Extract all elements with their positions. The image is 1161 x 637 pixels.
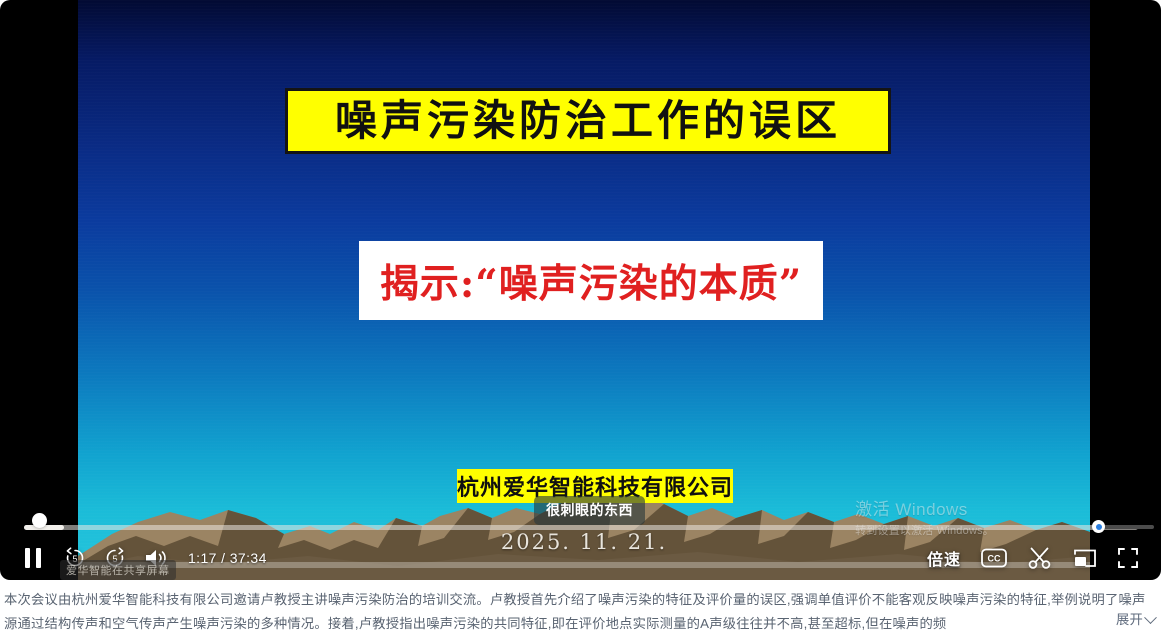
video-player[interactable]: 噪声污染防治工作的误区 揭示:“噪声污染的本质” 杭州爱华智能科技有限公司 很刺… xyxy=(0,0,1161,580)
volume-slider-handle[interactable] xyxy=(1092,520,1105,533)
cc-icon[interactable]: CC xyxy=(981,547,1007,569)
seek-handle[interactable] xyxy=(32,513,47,528)
description-text: 本次会议由杭州爱华智能科技有限公司邀请卢教授主讲噪声污染防治的培训交流。卢教授首… xyxy=(4,588,1155,636)
time-display: 1:17 / 37:34 xyxy=(188,550,267,566)
expand-description-button[interactable]: 展开 xyxy=(1096,608,1155,632)
svg-text:CC: CC xyxy=(988,554,1001,564)
player-controls[interactable]: 5 5 1:17 / 37:34 倍速 xyxy=(0,518,1161,580)
fullscreen-icon[interactable] xyxy=(1117,547,1139,569)
slide-subtitle: 揭示:“噪声污染的本质” xyxy=(380,253,802,309)
slide-title-box: 噪声污染防治工作的误区 xyxy=(285,88,891,154)
seek-track[interactable] xyxy=(24,525,1138,530)
volume-slider[interactable] xyxy=(1092,523,1154,531)
forward-5-icon[interactable]: 5 xyxy=(102,545,128,571)
picture-in-picture-icon[interactable] xyxy=(1073,547,1097,569)
slide-subtitle-box: 揭示:“噪声污染的本质” xyxy=(359,241,823,320)
svg-text:5: 5 xyxy=(72,554,77,564)
volume-icon[interactable] xyxy=(142,545,170,571)
svg-text:5: 5 xyxy=(112,554,117,564)
playback-speed-button[interactable]: 倍速 xyxy=(927,546,961,570)
scissors-icon[interactable] xyxy=(1027,546,1053,570)
replay-5-icon[interactable]: 5 xyxy=(62,545,88,571)
video-stage[interactable]: 噪声污染防治工作的误区 揭示:“噪声污染的本质” 杭州爱华智能科技有限公司 很刺… xyxy=(78,0,1090,580)
controls-button-row[interactable]: 5 5 1:17 / 37:34 倍速 xyxy=(0,536,1161,580)
video-description: 本次会议由杭州爱华智能科技有限公司邀请卢教授主讲噪声污染防治的培训交流。卢教授首… xyxy=(0,586,1161,637)
chevron-down-icon xyxy=(1144,611,1157,624)
seek-bar-row[interactable] xyxy=(0,518,1161,536)
slide-title: 噪声污染防治工作的误区 xyxy=(335,100,841,142)
pause-icon[interactable] xyxy=(20,545,46,571)
expand-label: 展开 xyxy=(1116,608,1143,632)
